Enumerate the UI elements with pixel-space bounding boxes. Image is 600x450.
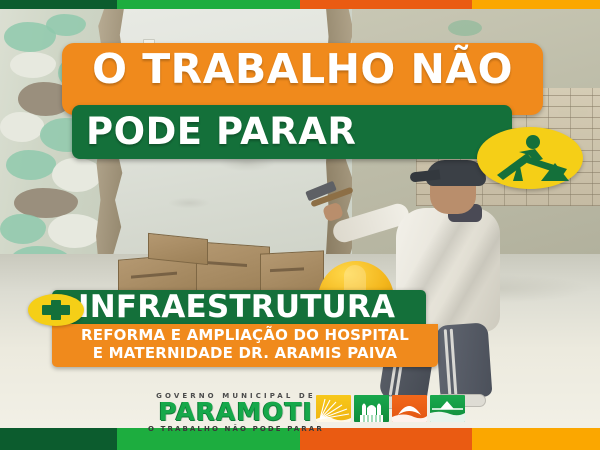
rule-segment-dark-green <box>0 0 117 9</box>
logo-tagline: O TRABALHO NÃO PODE PARAR <box>148 425 324 433</box>
infrastructure-title: INFRAESTRUTURA <box>78 291 395 323</box>
infrastructure-subtitle-line1: REFORMA E AMPLIAÇÃO DO HOSPITAL <box>62 328 428 343</box>
rule-segment-orange-red <box>300 428 472 450</box>
worker-with-hammer <box>372 160 514 408</box>
poster: O TRABALHO NÃO PODE PARAR INFRAESTRUTURA… <box>0 0 600 450</box>
headline-line1: O TRABALHO NÃO <box>78 50 527 89</box>
rule-segment-orange-red <box>300 0 472 9</box>
infrastructure-subtitle-line2: E MATERNIDADE DR. ARAMIS PAIVA <box>62 346 428 361</box>
rule-segment-dark-green <box>0 428 117 450</box>
rule-segment-amber <box>472 0 600 9</box>
infrastructure-title-bar: INFRAESTRUTURA <box>52 290 426 324</box>
headline-green-bar: PODE PARAR <box>72 105 512 159</box>
church-tile <box>354 395 389 422</box>
logo-brand: PARAMOTI <box>148 400 324 424</box>
roadworks-worker-icon <box>477 127 583 189</box>
government-logo: GOVERNO MUNICIPAL DE PARAMOTI O TRABALHO… <box>148 392 324 433</box>
plus-cross-icon <box>28 294 84 326</box>
infrastructure-subtitle-bar: REFORMA E AMPLIAÇÃO DO HOSPITAL E MATERN… <box>52 324 438 367</box>
municipal-crest <box>316 395 465 422</box>
rule-segment-green <box>117 0 300 9</box>
rule-segment-amber <box>472 428 600 450</box>
headline-block: O TRABALHO NÃO PODE PARAR <box>62 43 543 115</box>
landscape-tile <box>430 395 465 422</box>
top-color-rule <box>0 0 600 9</box>
headline-line2: PODE PARAR <box>86 113 498 150</box>
sun-rays-tile <box>316 395 351 422</box>
monument-tile <box>392 395 427 422</box>
